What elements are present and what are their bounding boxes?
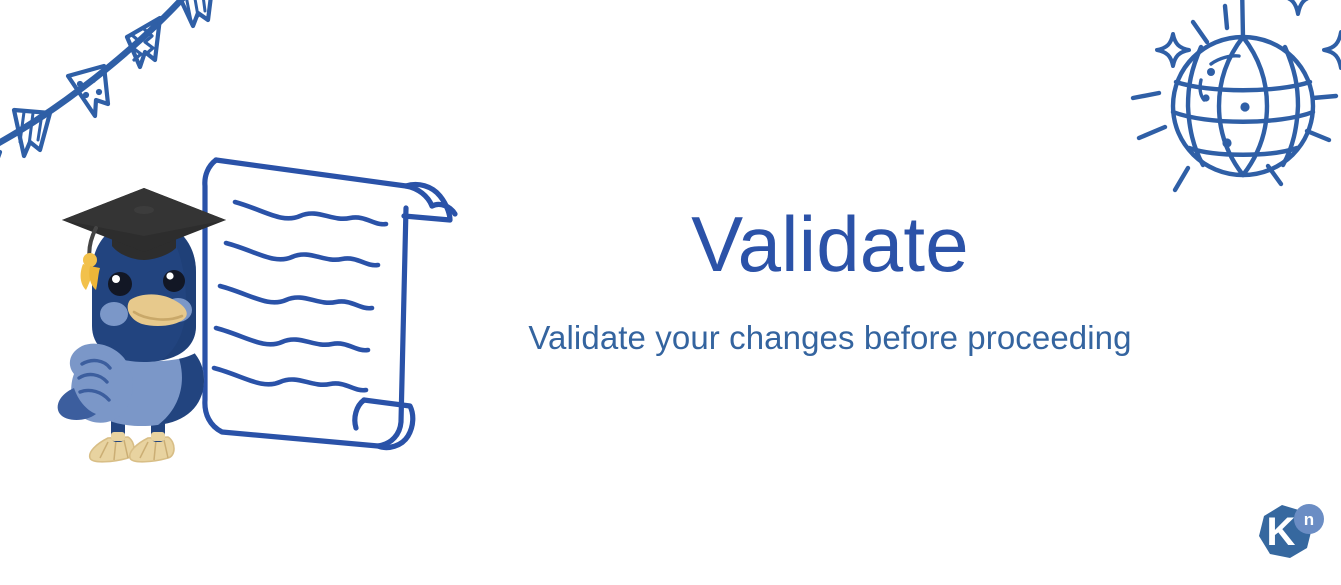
party-bunting-icon (0, 0, 234, 184)
logo-badge-letter-n: n (1304, 510, 1314, 529)
page-subtitle: Validate your changes before proceeding (465, 283, 1195, 357)
disco-ball-icon (1115, 0, 1341, 225)
headline-block: Validate Validate your changes before pr… (465, 205, 1195, 357)
logo-letter-k: K (1267, 510, 1296, 554)
slide-canvas: Validate Validate your changes before pr… (0, 0, 1341, 585)
certificate-scroll-icon (178, 138, 463, 453)
graduate-bird-mascot-icon (52, 186, 237, 471)
page-title: Validate (465, 205, 1195, 283)
brand-logo[interactable]: K n (1249, 500, 1329, 572)
